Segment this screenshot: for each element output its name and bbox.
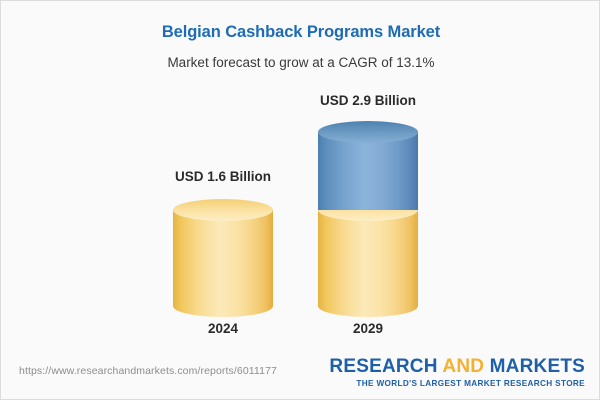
bar-value-label-2024: USD 1.6 Billion [153,169,293,184]
chart-card: Belgian Cashback Programs Market Market … [0,0,600,400]
cylinder-body-yellow [173,210,273,306]
logo-word-research: RESEARCH [329,356,442,377]
cylinder-body-yellow [318,210,418,306]
bar-category-label-2029: 2029 [298,321,438,336]
cylinder-top-cap-yellow [173,199,273,221]
cylinder-2029[interactable] [318,121,418,317]
logo-word-and: AND [442,356,489,377]
research-and-markets-logo[interactable]: RESEARCH AND MARKETS THE WORLD'S LARGEST… [329,357,585,388]
plot-area: USD 1.6 Billion 2024 USD 2.9 Billion [1,1,600,346]
source-url[interactable]: https://www.researchandmarkets.com/repor… [19,365,277,377]
bar-group-2029: USD 2.9 Billion 2029 [298,1,438,346]
footer: https://www.researchandmarkets.com/repor… [1,351,600,399]
bar-group-2024: USD 1.6 Billion 2024 [153,1,293,346]
bar-value-label-2029: USD 2.9 Billion [298,93,438,108]
cylinder-segment-yellow [173,210,273,306]
cylinder-segment-yellow [318,210,418,306]
logo-wordmark: RESEARCH AND MARKETS [329,357,585,377]
bar-category-label-2024: 2024 [153,321,293,336]
cylinder-2024[interactable] [173,199,273,317]
cylinder-top-cap-blue [318,121,418,143]
logo-tagline: THE WORLD'S LARGEST MARKET RESEARCH STOR… [329,379,585,388]
cylinder-segment-blue [318,132,418,210]
logo-word-markets: MARKETS [490,356,585,377]
cylinder-body-blue [318,132,418,210]
